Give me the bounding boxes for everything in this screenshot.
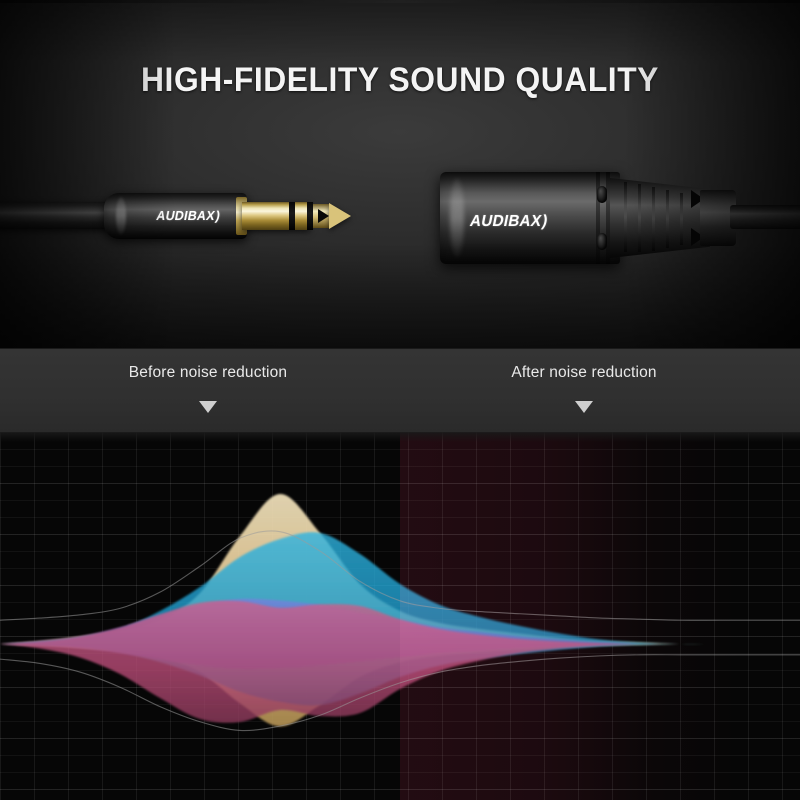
cable-left	[0, 202, 118, 229]
xlr-screw-top	[597, 186, 607, 203]
product-marketing-image: HIGH-FIDELITY SOUND QUALITY AUDIBAX) AUD…	[0, 0, 800, 800]
down-triangle-icon-after	[575, 401, 593, 413]
label-after-noise-reduction: After noise reduction	[458, 364, 710, 382]
waveform-visualization	[0, 432, 800, 800]
xlr-rib	[680, 193, 683, 245]
down-triangle-icon-before	[199, 401, 217, 413]
brand-logo-on-plug: AUDIBAX)	[150, 203, 226, 227]
trs-tip-cone	[329, 203, 351, 229]
comparison-label-band: Before noise reduction After noise reduc…	[0, 348, 800, 433]
brand-logo-text: AUDIBAX)	[155, 208, 220, 223]
waveform-top-fade	[0, 432, 800, 442]
label-before-noise-reduction: Before noise reduction	[82, 364, 334, 382]
page-title: HIGH-FIDELITY SOUND QUALITY	[26, 60, 774, 100]
xlr-rib	[652, 187, 655, 251]
xlr-screw-bottom	[597, 233, 607, 250]
xlr-rib	[638, 184, 641, 252]
brand-logo-on-xlr: AUDIBAX)	[462, 209, 554, 235]
xlr-rib	[624, 182, 627, 252]
trs-gold-shank	[242, 202, 310, 230]
hero-vignette	[0, 0, 800, 348]
hero-section: HIGH-FIDELITY SOUND QUALITY AUDIBAX) AUD…	[0, 0, 800, 348]
cable-right	[730, 205, 800, 229]
hero-top-highlight	[0, 0, 800, 3]
trs-tip-notch	[318, 209, 329, 223]
xlr-rib	[666, 190, 669, 248]
brand-logo-text-xlr: AUDIBAX)	[468, 213, 548, 231]
waveform-svg	[0, 432, 800, 800]
xlr-band-2	[606, 172, 610, 264]
trs-insulator-ring-1	[289, 202, 295, 230]
